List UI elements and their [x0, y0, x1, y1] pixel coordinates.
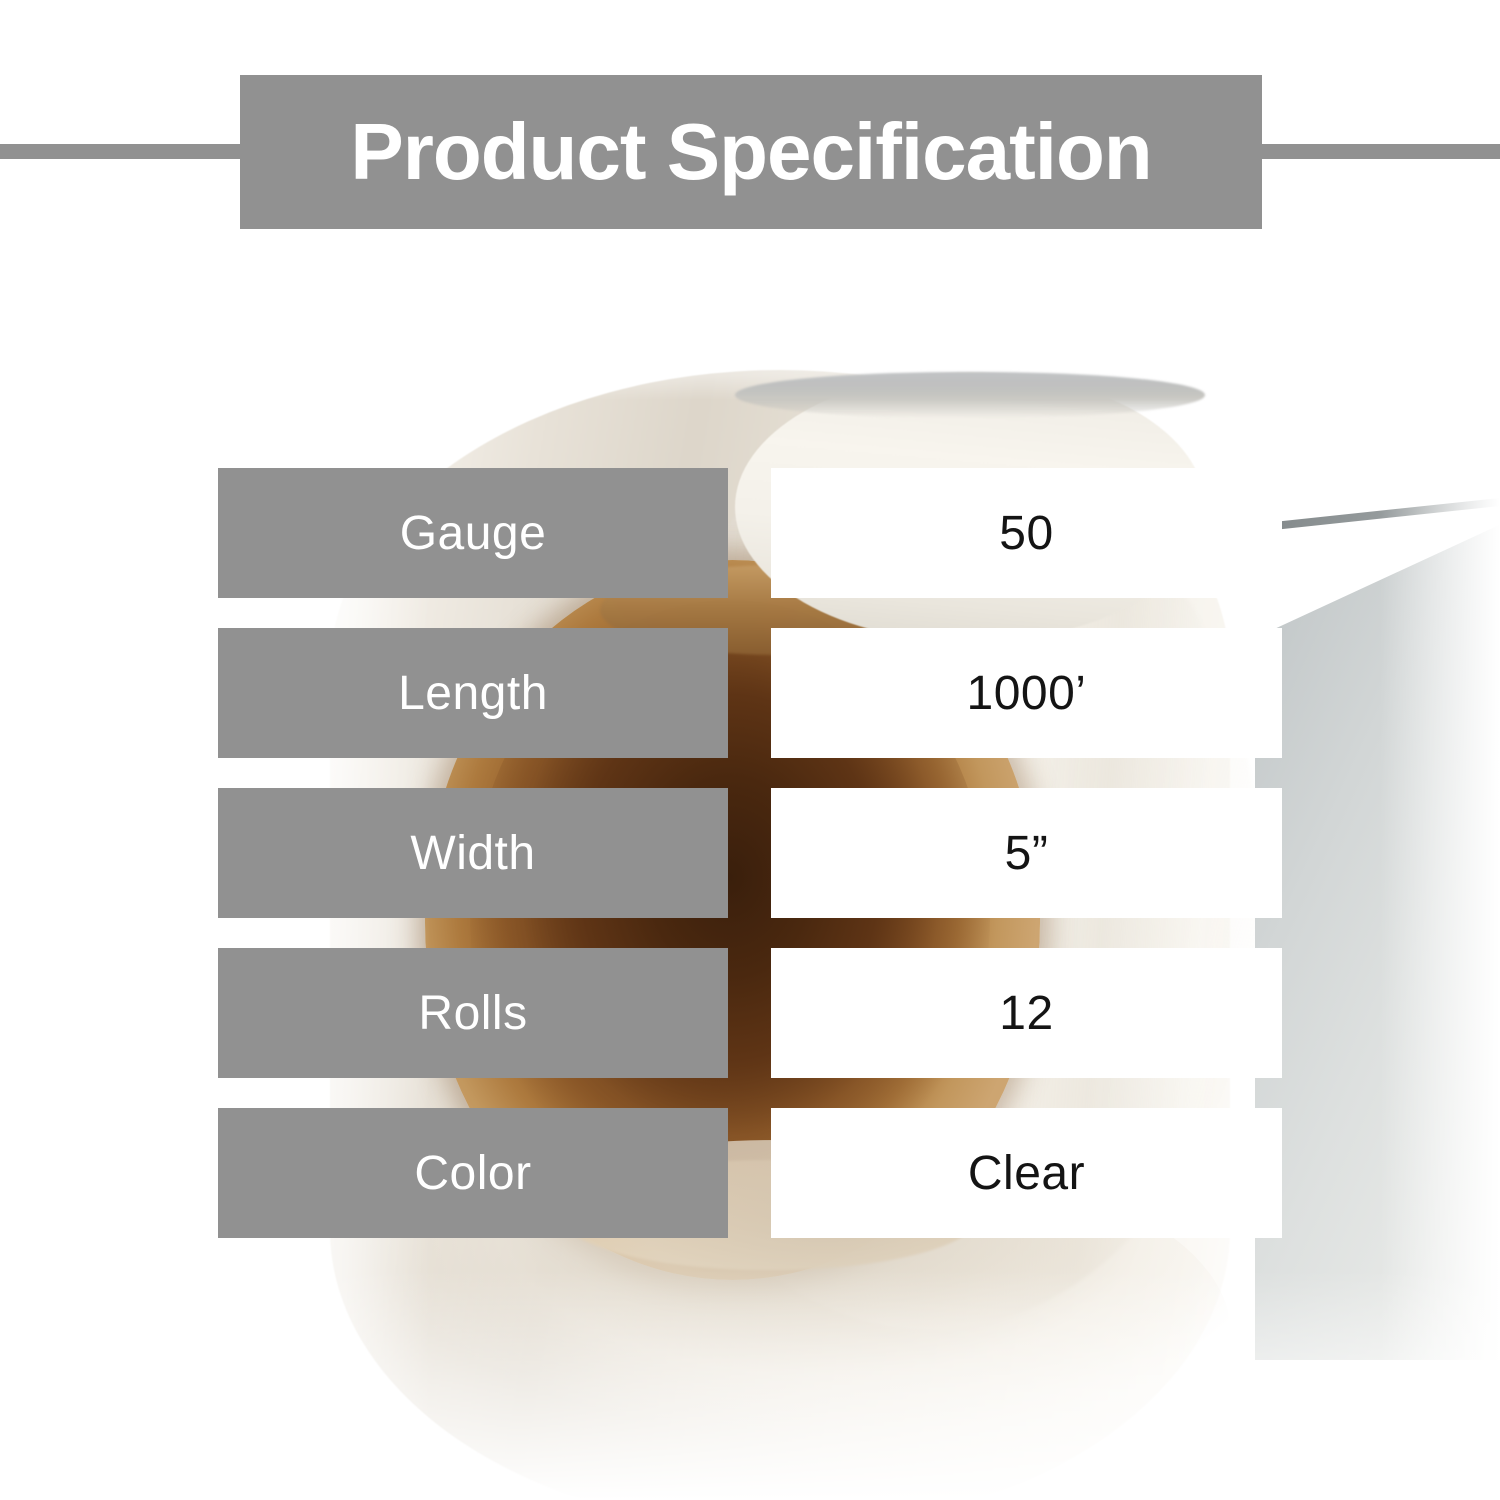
photo-fade-bottom — [0, 1270, 1500, 1500]
table-row: Gauge 50 — [218, 468, 1282, 598]
spec-label-gauge: Gauge — [218, 468, 728, 598]
title-plate: Product Specification — [240, 75, 1262, 229]
spec-value-rolls: 12 — [771, 948, 1282, 1078]
spec-value-length: 1000’ — [771, 628, 1282, 758]
spec-label-width: Width — [218, 788, 728, 918]
column-gap — [728, 628, 771, 758]
spec-label-rolls: Rolls — [218, 948, 728, 1078]
column-gap — [728, 1108, 771, 1238]
table-row: Rolls 12 — [218, 948, 1282, 1078]
column-gap — [728, 948, 771, 1078]
spec-label-length: Length — [218, 628, 728, 758]
page-title: Product Specification — [350, 112, 1151, 192]
spec-value-width: 5” — [771, 788, 1282, 918]
table-row: Color Clear — [218, 1108, 1282, 1238]
product-specification-table: Gauge 50 Length 1000’ Width 5” Rolls 12 … — [218, 468, 1282, 1238]
spec-value-color: Clear — [771, 1108, 1282, 1238]
spec-value-gauge: 50 — [771, 468, 1282, 598]
table-row: Width 5” — [218, 788, 1282, 918]
column-gap — [728, 788, 771, 918]
table-row: Length 1000’ — [218, 628, 1282, 758]
column-gap — [728, 468, 771, 598]
spec-label-color: Color — [218, 1108, 728, 1238]
